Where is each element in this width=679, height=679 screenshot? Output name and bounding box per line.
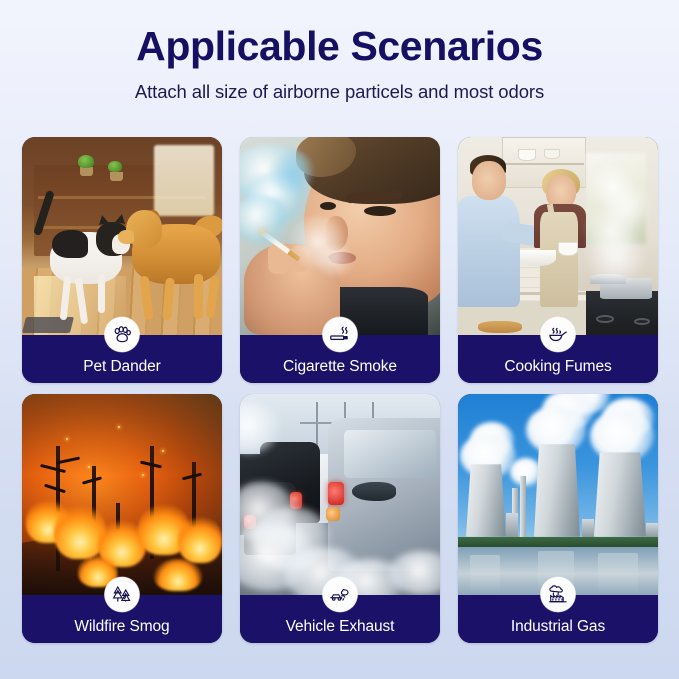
- forest-fire-icon: [105, 577, 140, 612]
- card-label: Cigarette Smoke: [283, 359, 397, 375]
- scenario-card-industrial-gas[interactable]: Industrial Gas: [458, 394, 658, 643]
- card-label: Pet Dander: [83, 359, 160, 375]
- pet-dander-photo: [22, 137, 222, 335]
- cigarette-smoke-photo: [240, 137, 440, 335]
- scenario-grid: Pet Dander: [22, 137, 658, 643]
- card-label: Vehicle Exhaust: [286, 619, 395, 635]
- frying-pan-icon: [541, 317, 576, 352]
- page-subtitle: Attach all size of airborne particels an…: [0, 81, 679, 103]
- card-label: Wildfire Smog: [74, 619, 169, 635]
- page-title: Applicable Scenarios: [0, 24, 679, 70]
- scenario-card-wildfire-smog[interactable]: Wildfire Smog: [22, 394, 222, 643]
- cooking-fumes-photo: [458, 137, 658, 335]
- car-exhaust-icon: [323, 577, 358, 612]
- cigarette-smoke-icon: [323, 317, 358, 352]
- scenario-card-cigarette-smoke[interactable]: Cigarette Smoke: [240, 137, 440, 383]
- paw-print-icon: [105, 317, 140, 352]
- wildfire-smog-photo: [22, 394, 222, 595]
- scenario-card-cooking-fumes[interactable]: Cooking Fumes: [458, 137, 658, 383]
- vehicle-exhaust-photo: [240, 394, 440, 595]
- industrial-gas-photo: [458, 394, 658, 595]
- card-label: Industrial Gas: [511, 619, 605, 635]
- applicable-scenarios-poster: Applicable Scenarios Attach all size of …: [0, 0, 679, 679]
- poster-header: Applicable Scenarios Attach all size of …: [0, 0, 679, 103]
- factory-smoke-icon: [541, 577, 576, 612]
- scenario-card-pet-dander[interactable]: Pet Dander: [22, 137, 222, 383]
- scenario-card-vehicle-exhaust[interactable]: Vehicle Exhaust: [240, 394, 440, 643]
- card-label: Cooking Fumes: [504, 359, 611, 375]
